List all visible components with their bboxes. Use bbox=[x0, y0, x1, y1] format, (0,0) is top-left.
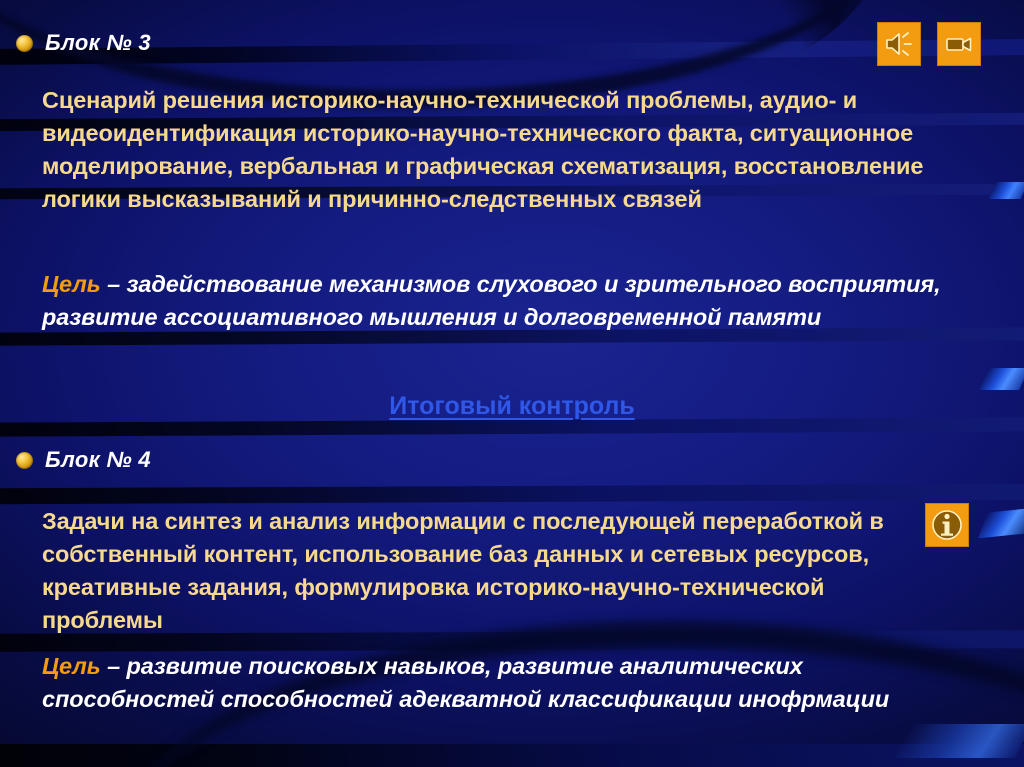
block-goal-3: Цель – задействование механизмов слухово… bbox=[42, 268, 970, 334]
information-icon bbox=[930, 508, 964, 542]
goal-label-3: Цель bbox=[42, 271, 101, 297]
goal-label-4: Цель bbox=[42, 653, 101, 679]
info-button[interactable] bbox=[925, 503, 969, 547]
block-title-4: Блок № 4 bbox=[45, 447, 151, 473]
block-body-4: Задачи на синтез и анализ информации с п… bbox=[42, 505, 942, 637]
final-control-link[interactable]: Итоговый контроль bbox=[389, 392, 635, 420]
gold-sphere-bullet-icon bbox=[16, 35, 33, 52]
video-play-button[interactable] bbox=[937, 22, 981, 66]
block-title-3: Блок № 3 bbox=[45, 30, 151, 56]
block-heading-4: Блок № 4 bbox=[16, 447, 151, 473]
block-goal-4: Цель – развитие поисковых навыков, разви… bbox=[42, 650, 970, 716]
goal-body-4: – развитие поисковых навыков, развитие а… bbox=[42, 653, 889, 712]
presentation-slide: Блок № 3 Сценарий решения историко-научн… bbox=[0, 0, 1024, 767]
video-camera-icon bbox=[944, 30, 974, 58]
goal-body-3: – задействование механизмов слухового и … bbox=[42, 271, 941, 330]
block-heading-3: Блок № 3 bbox=[16, 30, 151, 56]
gold-sphere-bullet-icon bbox=[16, 452, 33, 469]
final-control-link-wrapper: Итоговый контроль bbox=[0, 392, 1024, 421]
speaker-audio-icon bbox=[884, 30, 914, 58]
block-body-3: Сценарий решения историко-научно-техниче… bbox=[42, 84, 970, 216]
audio-play-button[interactable] bbox=[877, 22, 921, 66]
